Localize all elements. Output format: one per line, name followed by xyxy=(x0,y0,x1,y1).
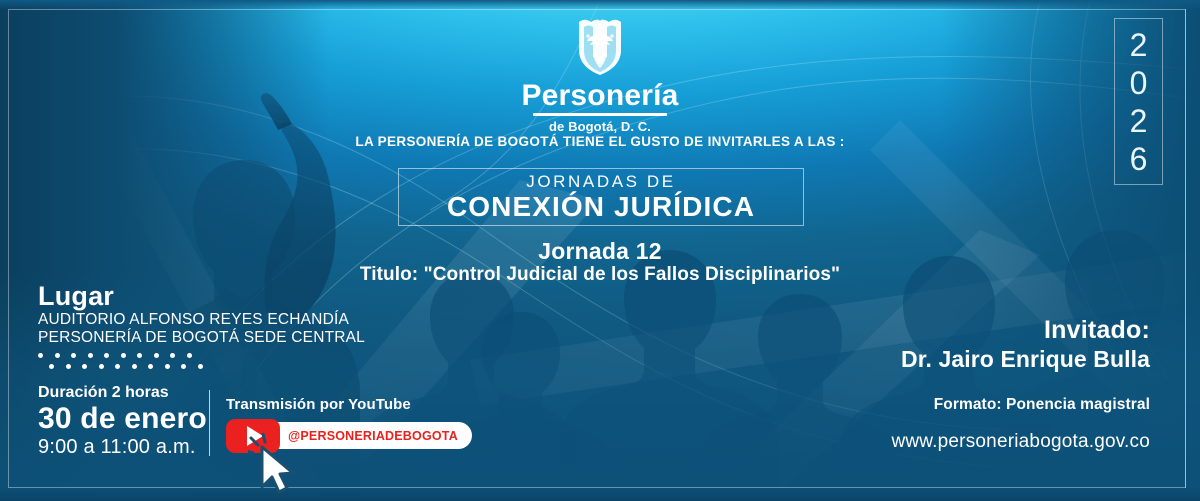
click-cursor-icon xyxy=(248,433,302,495)
schedule-block: Duración 2 horas 30 de enero 9:00 a 11:0… xyxy=(38,383,207,459)
guest-name: Dr. Jairo Enrique Bulla xyxy=(901,345,1150,373)
dot-separator xyxy=(38,353,365,369)
logo-underline xyxy=(533,113,667,116)
event-title-small: JORNADAS DE xyxy=(526,172,676,191)
event-title-box: JORNADAS DE CONEXIÓN JURÍDICA xyxy=(398,168,804,226)
stream-label: Transmisión por YouTube xyxy=(226,396,411,414)
venue-line-1: AUDITORIO ALFONSO REYES ECHANDÍA xyxy=(38,311,365,329)
stream-block: Transmisión por YouTube @PERSONERIADEBOG… xyxy=(226,396,411,453)
venue-label: Lugar xyxy=(38,281,365,311)
logo-subtitle: de Bogotá, D. C. xyxy=(0,119,1200,134)
venue-block: Lugar AUDITORIO ALFONSO REYES ECHANDÍA P… xyxy=(38,281,365,369)
website-url[interactable]: www.personeriabogota.gov.co xyxy=(891,431,1150,453)
youtube-handle: @PERSONERIADEBOGOTA xyxy=(288,429,458,443)
logo-wordmark: Personería xyxy=(0,80,1200,112)
session-number: Jornada 12 xyxy=(0,238,1200,265)
top-edge-fade xyxy=(0,0,1200,10)
event-hours: 9:00 a 11:00 a.m. xyxy=(38,435,207,459)
session-format: Formato: Ponencia magistral xyxy=(934,396,1150,414)
vertical-divider xyxy=(209,390,210,456)
venue-line-2: PERSONERÍA DE BOGOTÁ SEDE CENTRAL xyxy=(38,329,365,347)
invitation-line: LA PERSONERÍA DE BOGOTÁ TIENE EL GUSTO D… xyxy=(0,134,1200,149)
duration-text: Duración 2 horas xyxy=(38,383,207,402)
guest-label: Invitado: xyxy=(901,316,1150,345)
event-date: 30 de enero xyxy=(38,402,207,435)
event-title-big: CONEXIÓN JURÍDICA xyxy=(447,192,755,222)
personeria-logo: Personería de Bogotá, D. C. xyxy=(0,16,1200,134)
event-banner: 2 0 2 6 Personería de Bogotá, D. C. LA P… xyxy=(0,0,1200,501)
bogota-coat-of-arms-icon xyxy=(569,16,631,78)
guest-block: Invitado: Dr. Jairo Enrique Bulla xyxy=(901,316,1150,373)
bottom-edge-fade xyxy=(0,487,1200,501)
